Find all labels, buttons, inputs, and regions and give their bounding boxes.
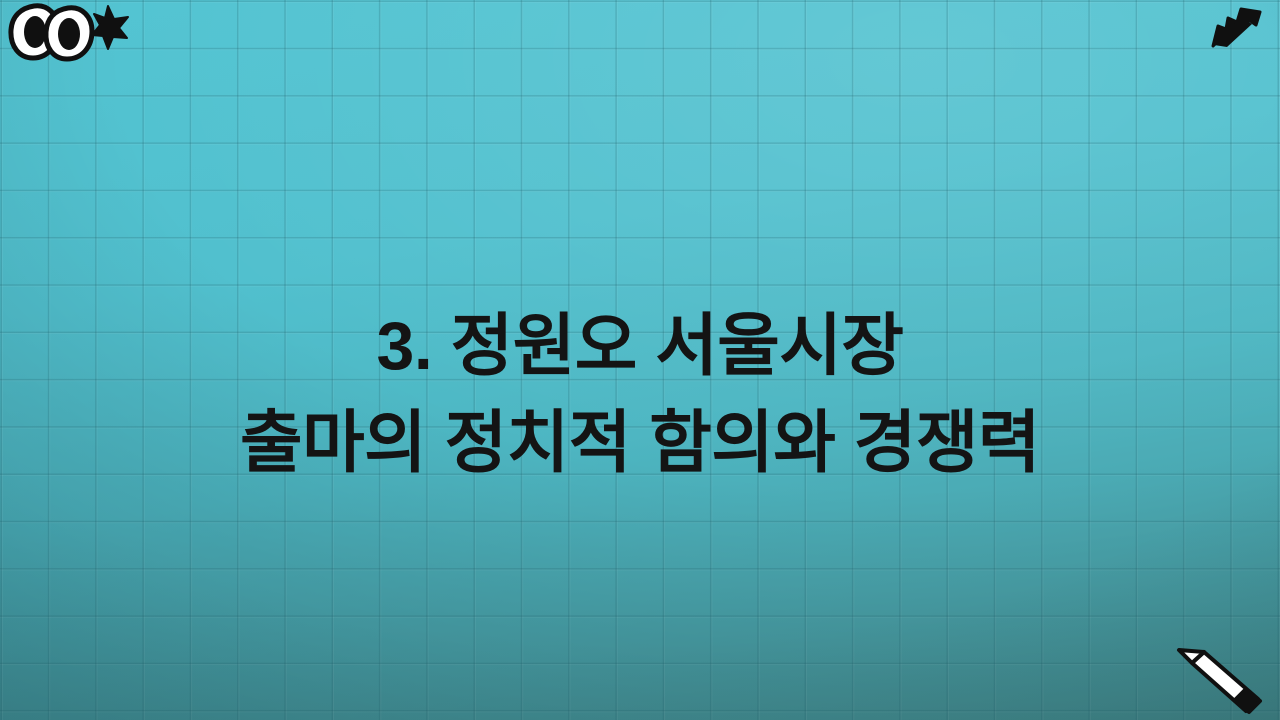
slide-canvas: 3. 정원오 서울시장 출마의 정치적 함의와 경쟁력 [0,0,1280,720]
eyes-star-logo [4,2,130,69]
slide-title: 3. 정원오 서울시장 출마의 정치적 함의와 경쟁력 [0,298,1280,494]
star-icon [92,6,128,49]
eyes-icon [11,6,92,59]
pencil-icon [1170,644,1270,720]
cursor-arrow-icon [1204,4,1266,57]
